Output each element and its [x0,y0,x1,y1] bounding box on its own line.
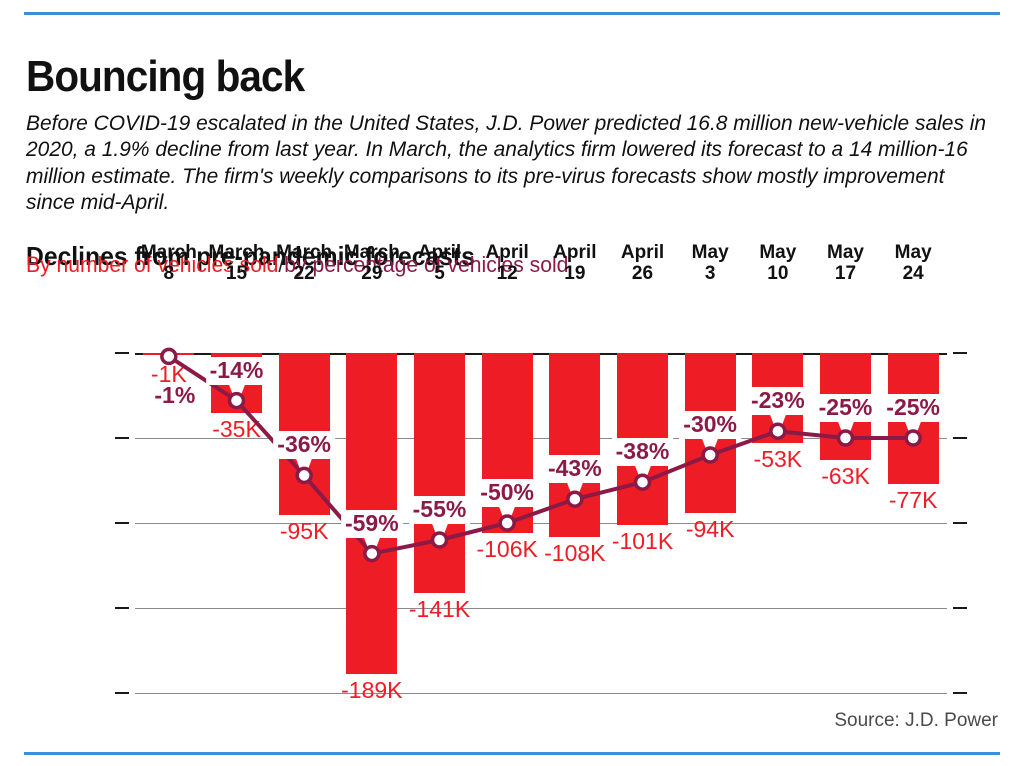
percentage-marker[interactable] [906,431,920,445]
x-axis-category-label: May17 [827,242,864,284]
x-axis-category-label: April12 [486,242,529,284]
percentage-marker[interactable] [500,516,514,530]
y-axis-left-tick-mark [115,437,129,439]
x-axis-category-label: April26 [621,242,664,284]
y-axis-left-tick-mark [115,607,129,609]
x-axis-category-label: March22 [276,242,332,284]
chart-area: 00%-50,000-25%-100,000-50%-150,000-75%-2… [0,296,1024,716]
percentage-marker[interactable] [433,533,447,547]
percentage-marker[interactable] [703,448,717,462]
bottom-rule [24,752,1000,755]
chart-plot: 00%-50,000-25%-100,000-50%-150,000-75%-2… [135,296,947,716]
percentage-marker[interactable] [636,475,650,489]
percentage-marker[interactable] [162,349,176,363]
percentage-markers-layer [135,296,947,716]
x-axis-category-label: May10 [759,242,796,284]
page-title: Bouncing back [26,55,304,99]
percentage-marker[interactable] [839,431,853,445]
x-axis-category-label: May24 [895,242,932,284]
y-axis-right-tick-mark [953,692,967,694]
y-axis-right-tick-mark [953,352,967,354]
x-axis-category-label: April19 [553,242,596,284]
percentage-marker[interactable] [771,424,785,438]
x-axis-category-label: March15 [209,242,265,284]
source-attribution: Source: J.D. Power [834,710,998,732]
intro-paragraph: Before COVID-19 escalated in the United … [26,110,986,216]
percentage-marker[interactable] [230,394,244,408]
percentage-marker[interactable] [365,547,379,561]
percentage-marker[interactable] [297,468,311,482]
y-axis-left-tick-mark [115,522,129,524]
top-rule [24,12,1000,15]
y-axis-right-tick-mark [953,607,967,609]
x-axis-category-label: March8 [141,242,197,284]
x-axis-category-label: May3 [692,242,729,284]
y-axis-left-tick-mark [115,352,129,354]
percentage-marker[interactable] [568,492,582,506]
y-axis-right-tick-mark [953,437,967,439]
x-axis-category-label: April5 [418,242,461,284]
x-axis-category-label: March29 [344,242,400,284]
y-axis-right-tick-mark [953,522,967,524]
y-axis-left-tick-mark [115,692,129,694]
